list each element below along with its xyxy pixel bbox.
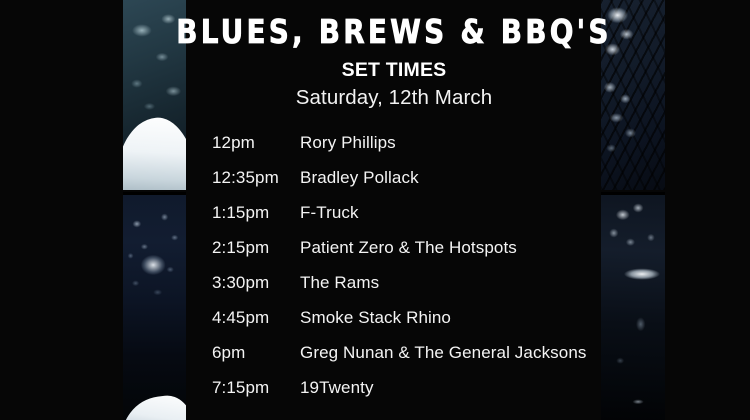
set-time-row: 3:30pmThe Rams — [212, 273, 602, 308]
set-time-row: 6pmGreg Nunan & The General Jacksons — [212, 343, 602, 378]
drum-kit-and-crowd-photo — [601, 192, 665, 420]
event-poster: BLUES, BREWS & BBQ'S SET TIMES Saturday,… — [0, 0, 750, 420]
set-time-row: 7:15pm19Twenty — [212, 378, 602, 413]
page-title: BLUES, BREWS & BBQ'S — [162, 12, 625, 51]
set-time-artist: 19Twenty — [300, 378, 374, 398]
page-title-text: BLUES, BREWS & BBQ'S — [176, 12, 611, 51]
set-time-row: 2:15pmPatient Zero & The Hotspots — [212, 238, 602, 273]
photo-bottom-right — [601, 192, 665, 420]
set-time-value: 2:15pm — [212, 238, 300, 258]
photo-bottom-left — [123, 192, 186, 420]
set-time-value: 1:15pm — [212, 203, 300, 223]
set-time-row: 12pmRory Phillips — [212, 133, 602, 168]
set-times-list: 12pmRory Phillips12:35pmBradley Pollack1… — [212, 133, 602, 413]
set-time-row: 1:15pmF-Truck — [212, 203, 602, 238]
set-time-artist: The Rams — [300, 273, 379, 293]
set-time-artist: F-Truck — [300, 203, 359, 223]
set-time-value: 7:15pm — [212, 378, 300, 398]
subtitle: SET TIMES — [186, 59, 602, 82]
set-time-artist: Smoke Stack Rhino — [300, 308, 451, 328]
set-time-row: 4:45pmSmoke Stack Rhino — [212, 308, 602, 343]
set-time-artist: Bradley Pollack — [300, 168, 419, 188]
set-time-value: 4:45pm — [212, 308, 300, 328]
crowd-at-night-photo — [123, 192, 186, 420]
set-time-value: 12:35pm — [212, 168, 300, 188]
set-time-artist: Rory Phillips — [300, 133, 396, 153]
set-time-value: 12pm — [212, 133, 300, 153]
set-time-value: 3:30pm — [212, 273, 300, 293]
event-date: Saturday, 12th March — [186, 86, 602, 110]
set-time-row: 12:35pmBradley Pollack — [212, 168, 602, 203]
set-time-artist: Patient Zero & The Hotspots — [300, 238, 517, 258]
poster-content: BLUES, BREWS & BBQ'S SET TIMES Saturday,… — [186, 0, 602, 420]
set-time-artist: Greg Nunan & The General Jacksons — [300, 343, 586, 363]
set-time-value: 6pm — [212, 343, 300, 363]
